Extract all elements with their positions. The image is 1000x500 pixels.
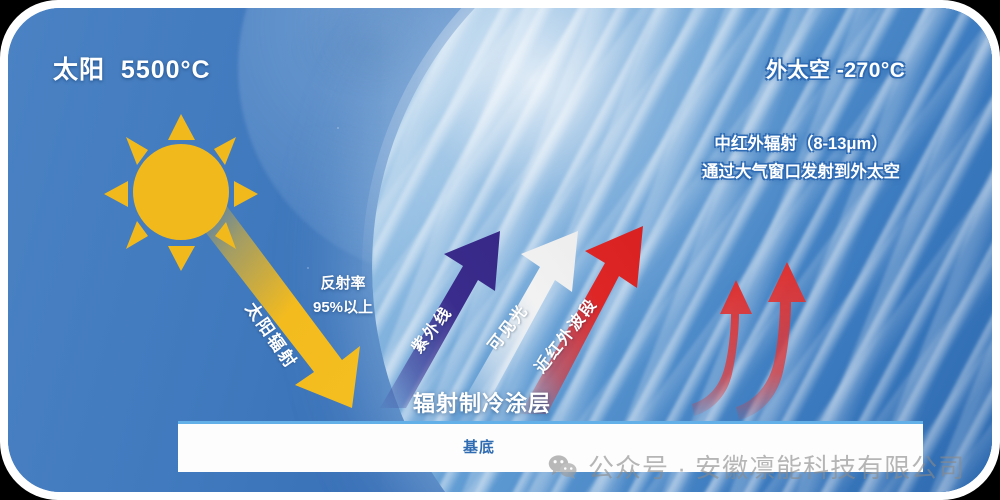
diagram-canvas: 太阳 5500°C 外太空 -270°C 中红外辐射（8-13μm） 通过大气窗… xyxy=(0,0,1000,500)
coating-layer-label: 辐射制冷涂层 xyxy=(413,386,551,418)
mid-infrared-annotation: 中红外辐射（8-13μm） 通过大气窗口发射到外太空 xyxy=(702,130,900,186)
sun-name: 太阳 xyxy=(53,56,105,84)
space-name: 外太空 xyxy=(766,59,831,82)
wechat-icon xyxy=(548,454,578,480)
arrow-thermal-emission-1 xyxy=(692,280,752,416)
watermark-text: 公众号 · 安徽凛能科技有限公司 xyxy=(588,448,965,485)
illustration-card: 太阳 5500°C 外太空 -270°C 中红外辐射（8-13μm） 通过大气窗… xyxy=(8,8,992,492)
mid-infrared-line-2: 通过大气窗口发射到外太空 xyxy=(702,158,900,186)
reflectance-line-1: 反射率 xyxy=(313,272,373,296)
sun-temp: 5500°C xyxy=(121,56,211,84)
watermark: 公众号 · 安徽凛能科技有限公司 xyxy=(548,448,965,485)
arrow-thermal-emission-2 xyxy=(736,262,806,420)
space-temp: -270°C xyxy=(837,59,906,82)
sun-temperature-label: 太阳 5500°C xyxy=(53,50,211,86)
reflectance-annotation: 反射率 95%以上 xyxy=(313,272,373,320)
reflectance-line-2: 95%以上 xyxy=(313,296,373,320)
mid-infrared-line-1: 中红外辐射（8-13μm） xyxy=(702,130,900,158)
outer-space-temperature-label: 外太空 -270°C xyxy=(766,54,905,84)
substrate-label: 基底 xyxy=(463,436,495,457)
